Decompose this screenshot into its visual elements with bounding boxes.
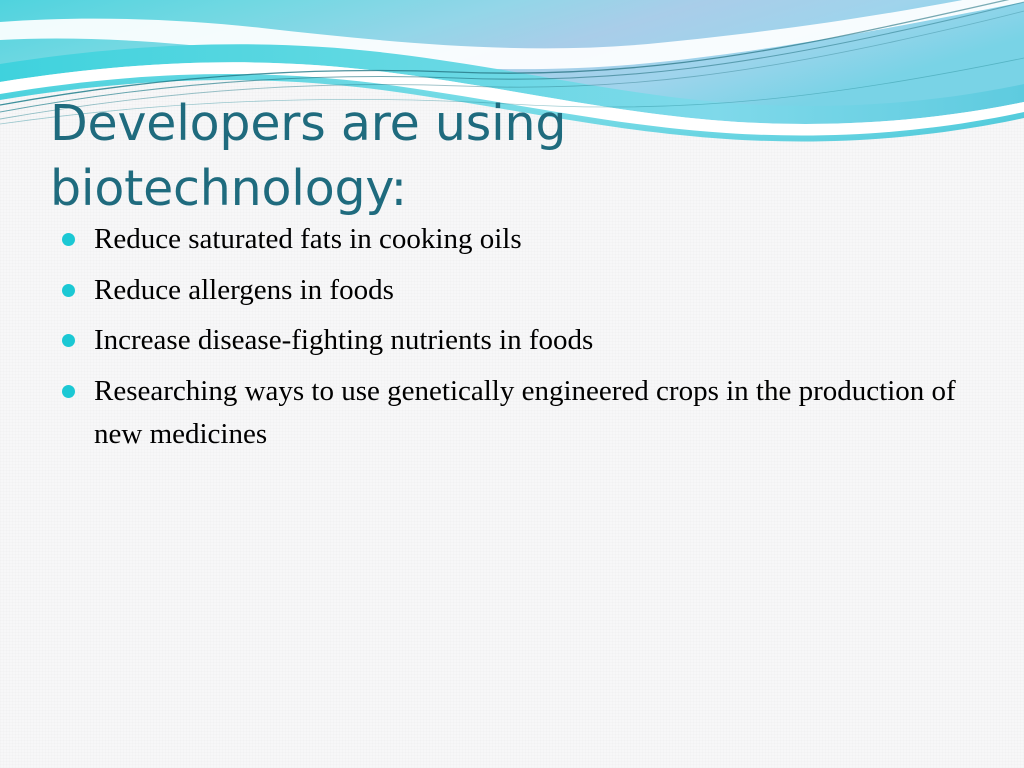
list-item: Reduce saturated fats in cooking oils [52,218,982,261]
bullet-list: Reduce saturated fats in cooking oils Re… [52,218,982,463]
bullet-dot-icon [62,334,75,347]
list-item-label: Reduce saturated fats in cooking oils [94,218,982,261]
list-item: Researching ways to use genetically engi… [52,370,982,455]
list-item: Increase disease-fighting nutrients in f… [52,319,982,362]
bullet-dot-icon [62,233,75,246]
presentation-slide: Developers are using biotechnology: Redu… [0,0,1024,768]
list-item-label: Reduce allergens in foods [94,269,982,312]
bullet-dot-icon [62,385,75,398]
list-item: Reduce allergens in foods [52,269,982,312]
bullet-dot-icon [62,284,75,297]
list-item-label: Increase disease-fighting nutrients in f… [94,319,982,362]
title-line-1: Developers are using [50,95,566,152]
list-item-label: Researching ways to use genetically engi… [94,370,982,455]
title-line-2: biotechnology: [50,160,407,217]
slide-content: Developers are using biotechnology: Redu… [0,0,1024,768]
page-title: Developers are using biotechnology: [50,91,850,221]
